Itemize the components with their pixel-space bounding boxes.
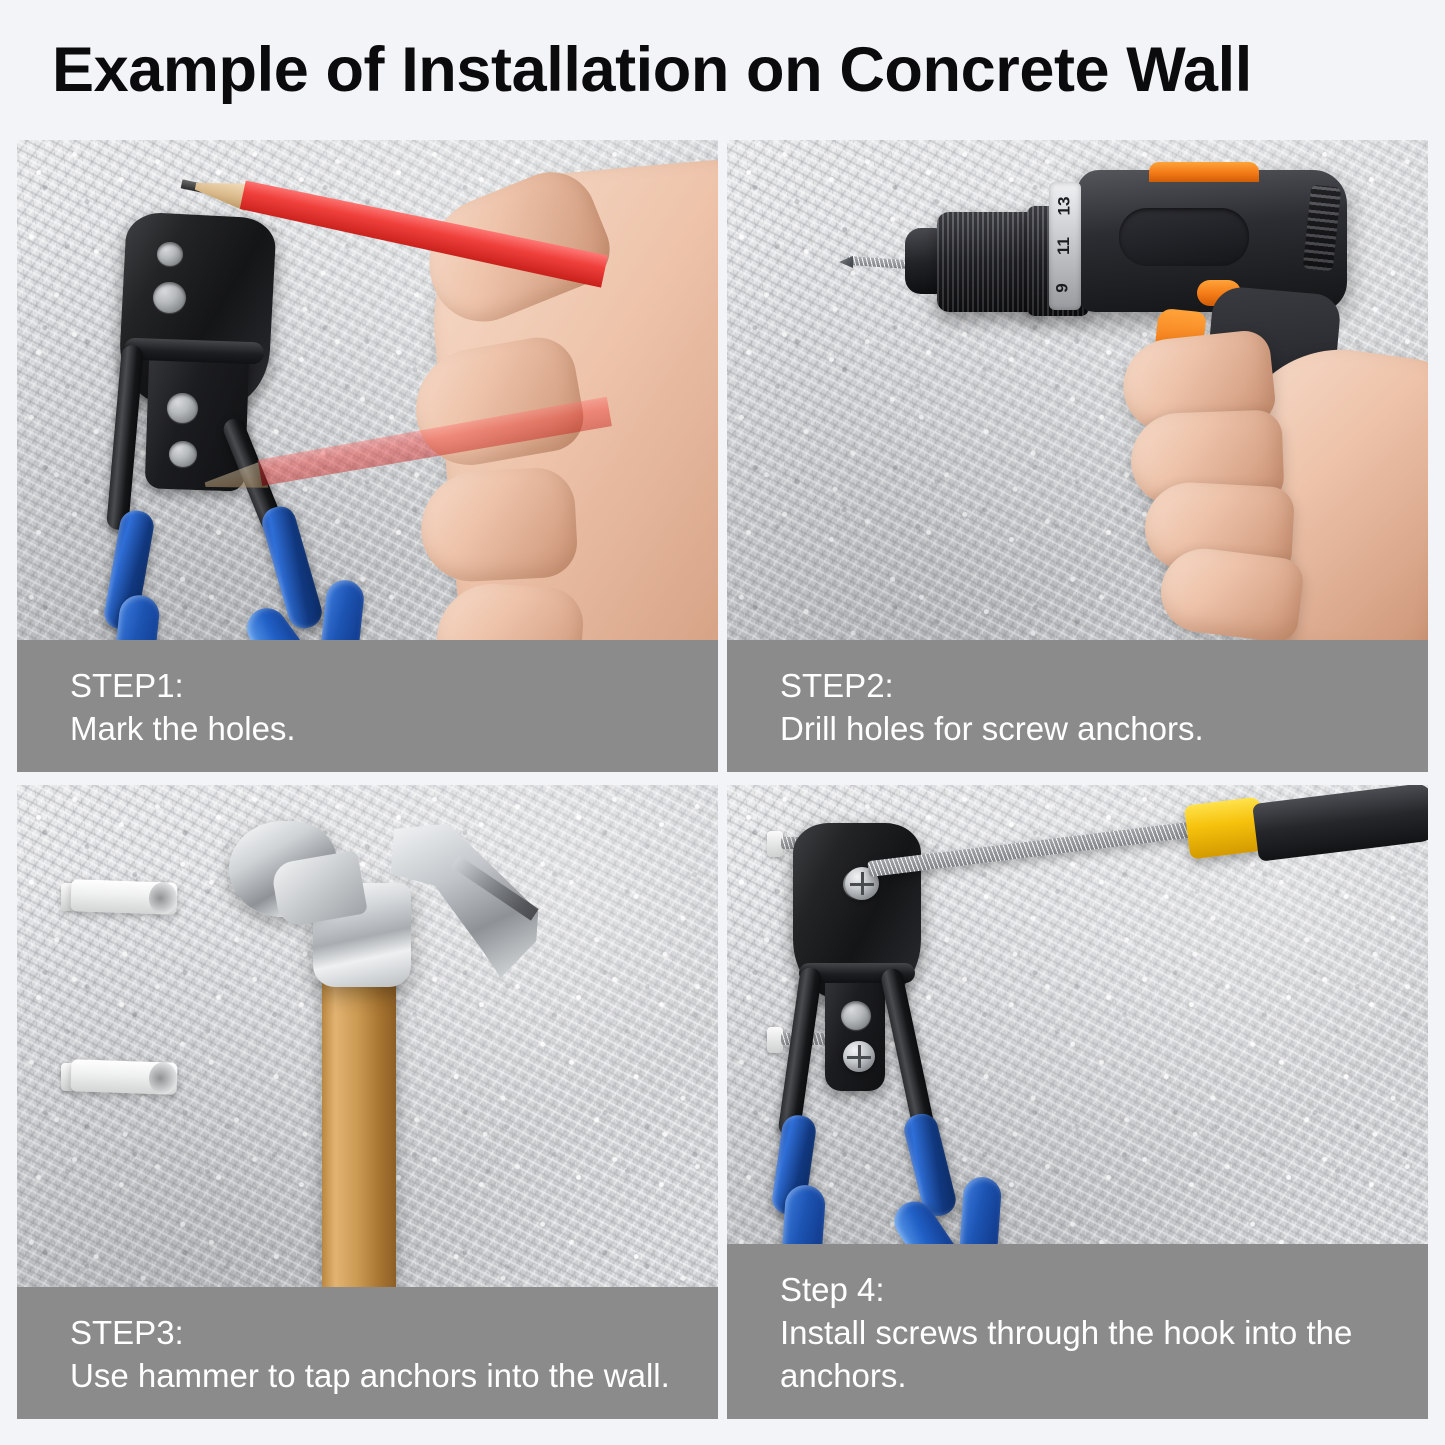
- step-3-label: STEP3:: [70, 1311, 718, 1354]
- step-4-caption: Step 4: Install screws through the hook …: [727, 1244, 1428, 1419]
- finger-pinky: [1156, 544, 1305, 644]
- step-4-label: Step 4:: [780, 1268, 1428, 1311]
- mounting-hole-2: [153, 282, 186, 313]
- step-1-instruction: Mark the holes.: [70, 707, 670, 750]
- screwdriver-shaft: [867, 821, 1198, 877]
- screwdriver-black-handle: [1252, 785, 1428, 862]
- hook-arm-left: [106, 344, 144, 530]
- step-2-instruction: Drill holes for screw anchors.: [780, 707, 1380, 750]
- mounting-hole-3: [167, 393, 198, 423]
- step-2-label: STEP2:: [780, 664, 1428, 707]
- step-3-caption: STEP3: Use hammer to tap anchors into th…: [17, 1287, 718, 1419]
- installation-guide-page: Example of Installation on Concrete Wall: [0, 0, 1445, 1445]
- step-2-caption: STEP2: Drill holes for screw anchors.: [727, 640, 1428, 772]
- step-panel-2: 13 11 9 STEP2: Drill hole: [727, 140, 1428, 772]
- mounting-hole-4: [169, 441, 197, 467]
- step-4-instruction: Install screws through the hook into the…: [780, 1311, 1380, 1397]
- steps-grid: STEP1: Mark the holes. 13 11 9: [17, 140, 1428, 1419]
- mounting-hole-1: [157, 242, 183, 266]
- page-title: Example of Installation on Concrete Wall: [52, 32, 1402, 108]
- step-panel-3: STEP3: Use hammer to tap anchors into th…: [17, 785, 718, 1419]
- step-1-label: STEP1:: [70, 664, 718, 707]
- step-panel-4: Step 4: Install screws through the hook …: [727, 785, 1428, 1419]
- step-3-instruction: Use hammer to tap anchors into the wall.: [70, 1354, 670, 1397]
- step-1-caption: STEP1: Mark the holes.: [17, 640, 718, 772]
- step-panel-1: STEP1: Mark the holes.: [17, 140, 718, 772]
